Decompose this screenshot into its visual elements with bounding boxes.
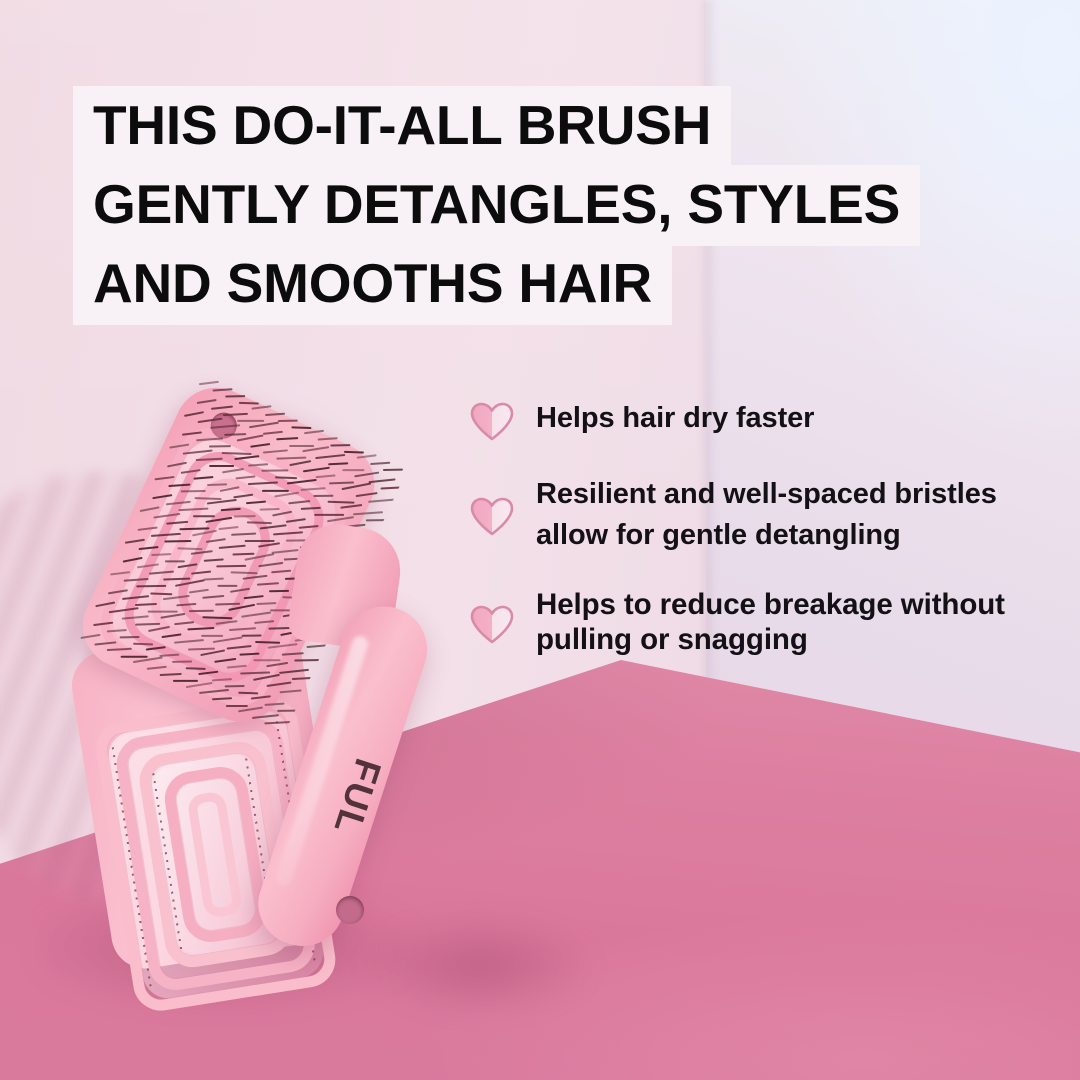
benefit-item-resilient-bristles: Resilient and well-spaced bristles allow… <box>470 474 1030 556</box>
heart-icon <box>470 497 514 537</box>
marketing-graphic: FUL THIS DO-IT-ALL BRUSH GENTLY DETANGLE… <box>0 0 1080 1080</box>
headline-line-2: GENTLY DETANGLES, STYLES <box>73 165 920 246</box>
heart-icon <box>470 605 514 645</box>
heart-icon <box>470 402 514 442</box>
benefit-item-reduce-breakage: Helps to reduce breakage without pulling… <box>470 588 1030 658</box>
benefit-text-resilient-bristles: Resilient and well-spaced bristles allow… <box>536 474 1030 556</box>
benefit-item-dry-faster: Helps hair dry faster <box>470 398 1030 442</box>
headline-line-1: THIS DO-IT-ALL BRUSH <box>73 86 731 167</box>
benefit-list: Helps hair dry faster Resilient and well… <box>470 398 1030 690</box>
headline-line-3: AND SMOOTHS HAIR <box>73 244 672 325</box>
benefit-text-reduce-breakage: Helps to reduce breakage without pulling… <box>536 588 1030 658</box>
benefit-text-dry-faster: Helps hair dry faster <box>536 398 814 439</box>
headline: THIS DO-IT-ALL BRUSH GENTLY DETANGLES, S… <box>73 86 973 323</box>
